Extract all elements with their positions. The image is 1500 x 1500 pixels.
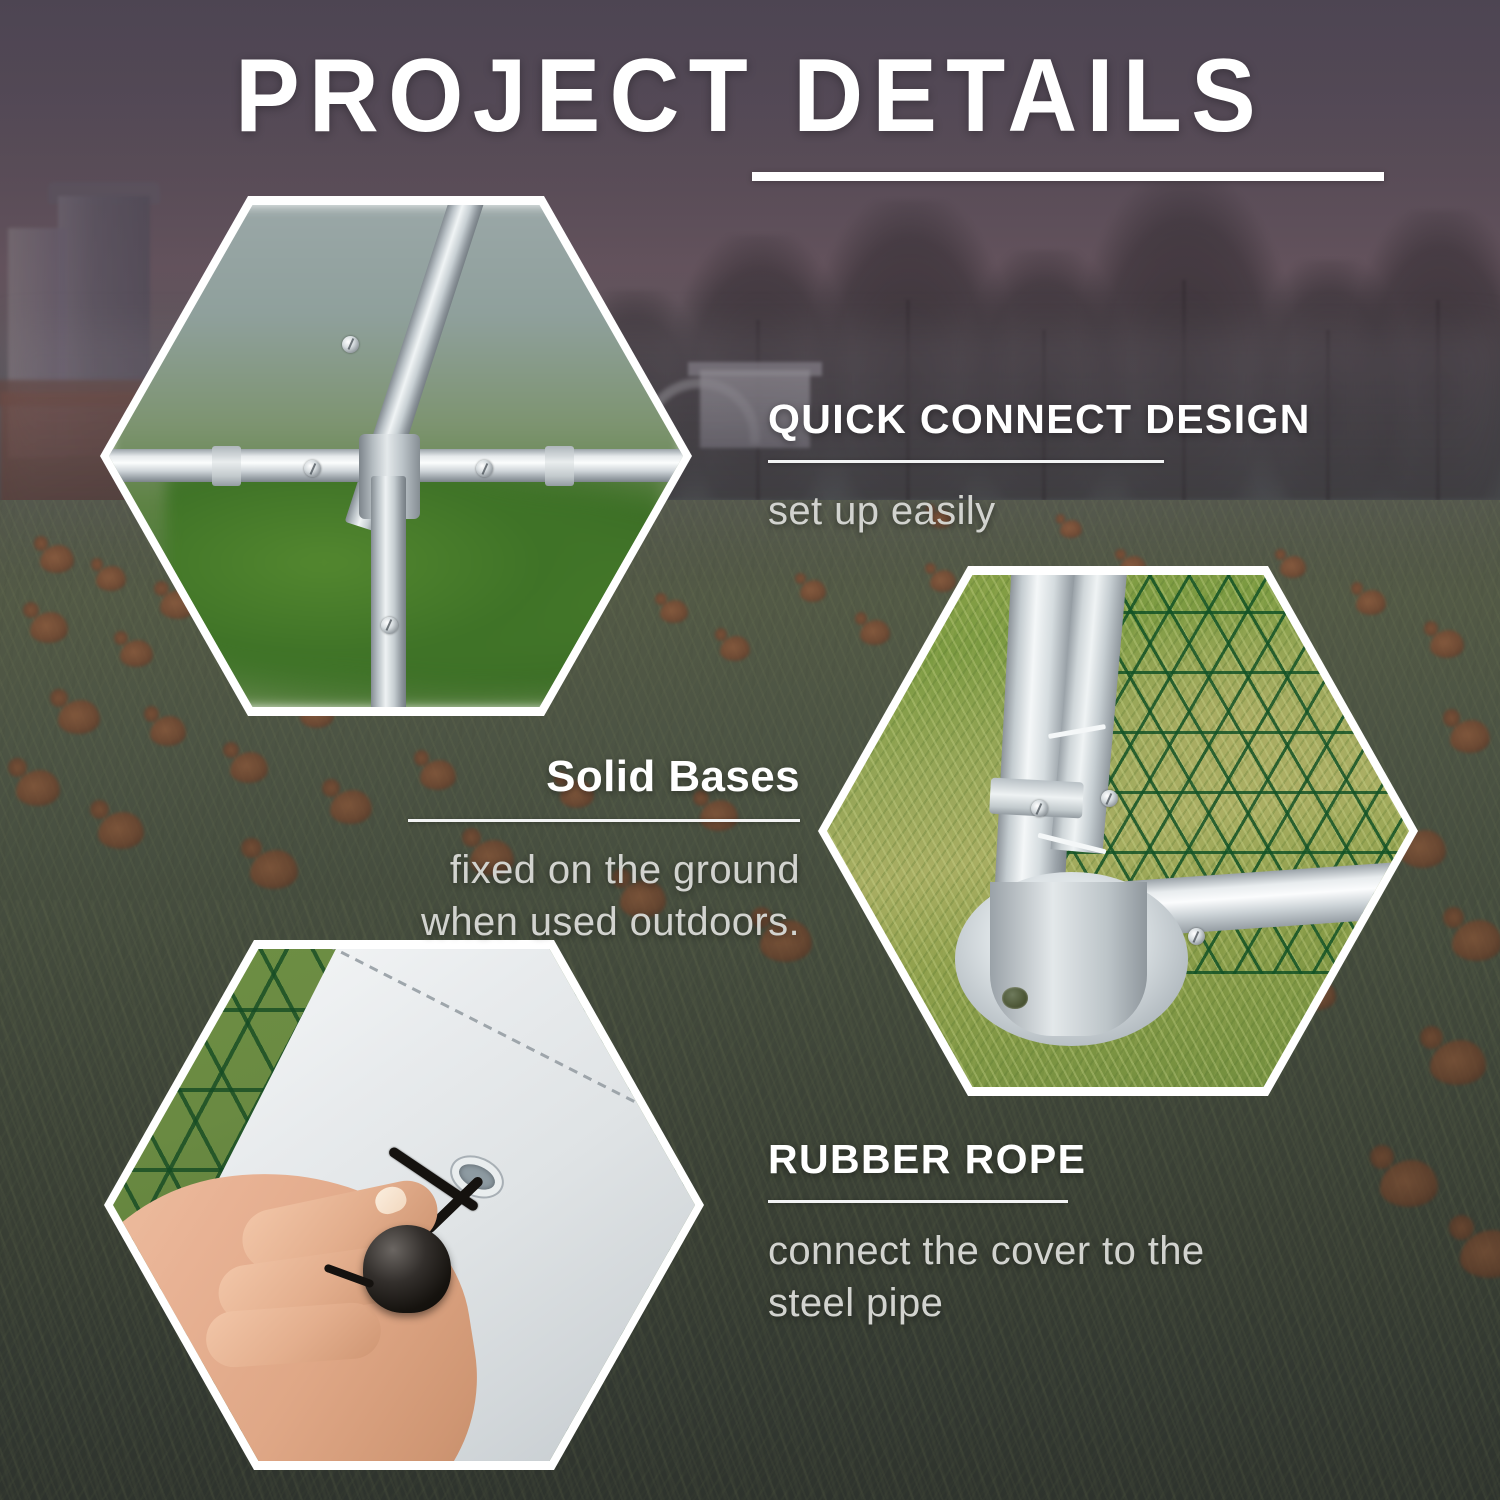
feature-divider [768, 1200, 1068, 1203]
feature-text-rubber-rope: RUBBER ROPE connect the cover to the ste… [768, 1136, 1388, 1329]
feature-heading: Solid Bases [300, 752, 800, 802]
feature-description: fixed on the ground when used outdoors. [300, 844, 800, 948]
feature-heading: QUICK CONNECT DESIGN [768, 396, 1388, 443]
feature-description: set up easily [768, 485, 1388, 537]
vertical-post-pipe [371, 476, 407, 707]
black-rubber-ball [363, 1225, 450, 1312]
feature-description: connect the cover to the steel pipe [768, 1225, 1388, 1329]
feature-image-quick-connect-design [100, 196, 692, 716]
feature-divider [768, 460, 1164, 463]
feature-image-quick-connect-design-photo [109, 205, 683, 707]
feature-image-rubber-rope-photo [113, 949, 695, 1461]
anchor-bolt-hole [1002, 987, 1029, 1009]
feature-description-line: fixed on the ground [300, 844, 800, 896]
feature-text-solid-bases: Solid Bases fixed on the ground when use… [300, 752, 800, 948]
feature-description-line: when used outdoors. [300, 896, 800, 948]
feature-text-quick-connect-design: QUICK CONNECT DESIGN set up easily [768, 396, 1388, 537]
feature-image-solid-bases-photo [827, 575, 1409, 1087]
feature-description-line: connect the cover to the [768, 1225, 1388, 1277]
feature-image-rubber-rope [104, 940, 704, 1470]
feature-description-line: steel pipe [768, 1277, 1388, 1329]
title-divider [752, 172, 1384, 181]
feature-heading: RUBBER ROPE [768, 1136, 1388, 1183]
feature-divider [408, 819, 800, 822]
feature-image-solid-bases [818, 566, 1418, 1096]
page-title: PROJECT DETAILS [53, 42, 1448, 151]
